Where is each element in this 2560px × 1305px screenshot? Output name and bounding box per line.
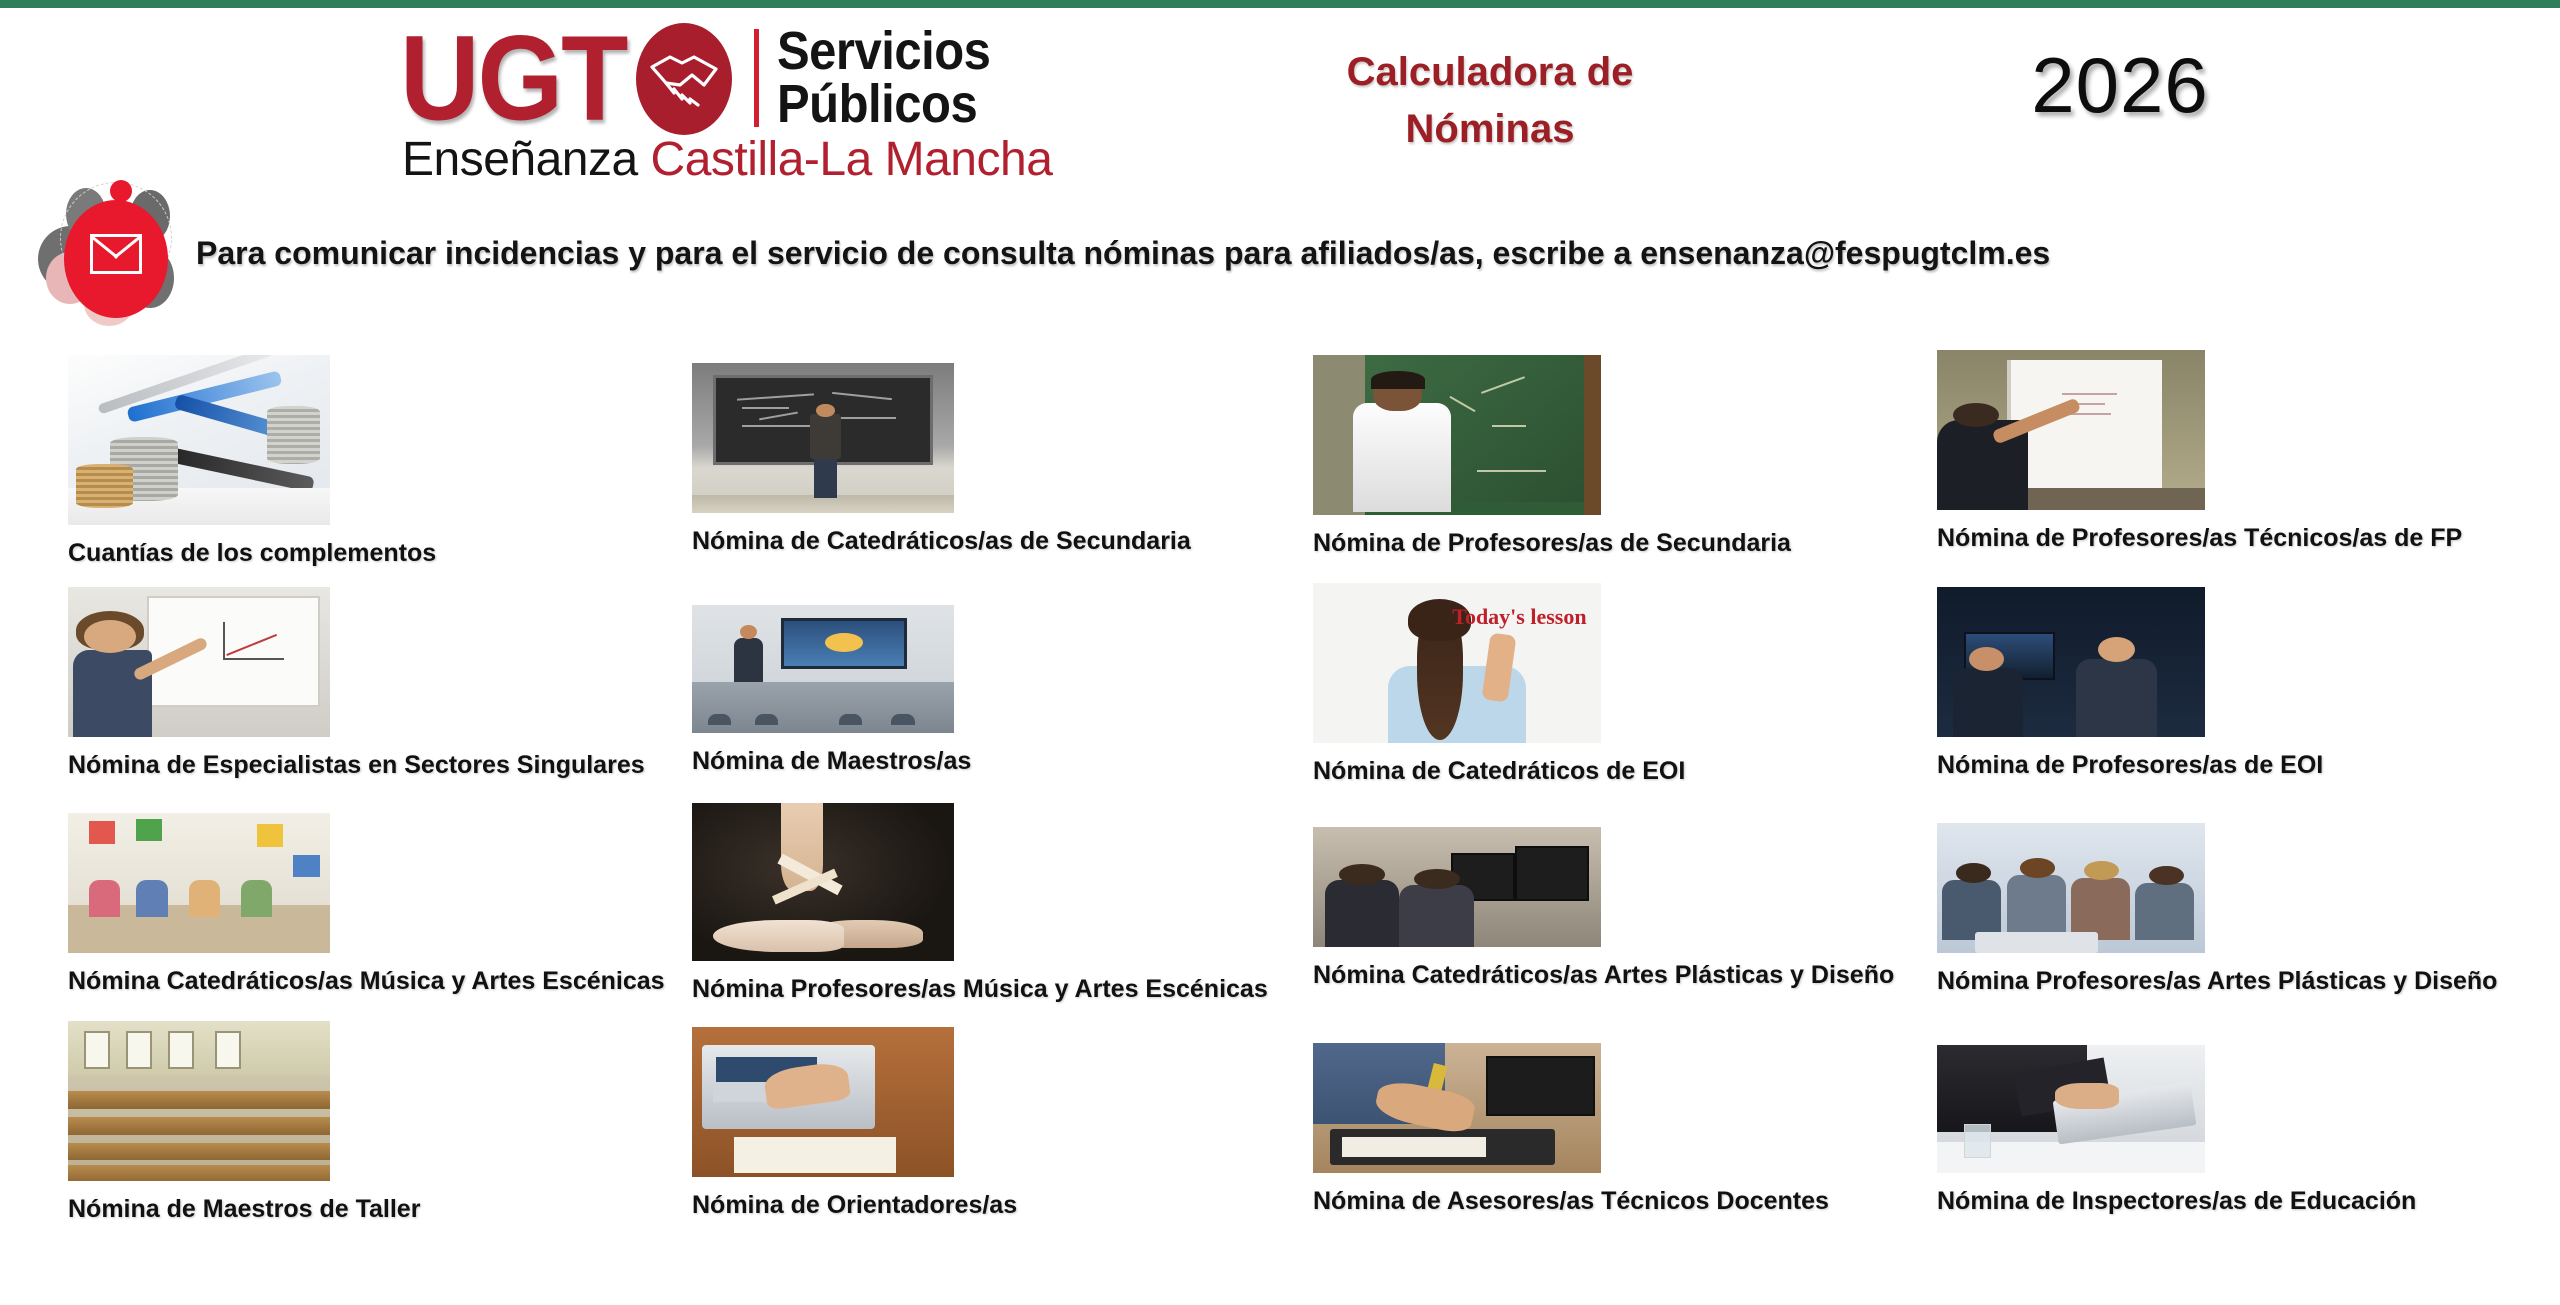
nomina-grid-row: Nómina de Maestros de TallerNómina de Or… <box>0 1005 2560 1225</box>
flip-photo <box>1937 350 2205 510</box>
nomina-card-label[interactable]: Nómina de Profesores/as Técnicos/as de F… <box>1937 524 2462 553</box>
nomina-thumbnail[interactable] <box>1313 355 1601 515</box>
nomina-thumbnail[interactable] <box>1313 827 1601 947</box>
notes-photo <box>1313 1043 1601 1173</box>
nomina-grid-row: Cuantías de los complementosNómina de Ca… <box>0 345 2560 565</box>
logo-divider <box>754 29 759 127</box>
nomina-card-label[interactable]: Nómina Profesores/as Música y Artes Escé… <box>692 975 1268 1004</box>
nomina-card-label[interactable]: Nómina Catedráticos/as Música y Artes Es… <box>68 967 665 996</box>
suit-photo <box>1937 1045 2205 1173</box>
contact-banner: Para comunicar incidencias y para el ser… <box>0 178 2560 328</box>
nomina-card-label[interactable]: Nómina de Profesores/as de Secundaria <box>1313 529 1791 558</box>
logo-top-row: UGT Servicios Públicos <box>400 18 1100 138</box>
nomina-card-label[interactable]: Nómina de Catedráticos/as de Secundaria <box>692 527 1191 556</box>
nomina-calculator-page: UGT Servicios Públicos Enseñanza Castill… <box>0 0 2560 1305</box>
nomina-card-label[interactable]: Nómina Catedráticos/as Artes Plásticas y… <box>1313 961 1894 990</box>
todays-lesson-overlay: Today's lesson <box>1452 604 1586 630</box>
group-photo <box>1937 823 2205 953</box>
page-title: Calculadora de Nóminas <box>1290 44 1690 158</box>
lesson-photo: Today's lesson <box>1313 583 1601 743</box>
nomina-card-label[interactable]: Cuantías de los complementos <box>68 539 436 568</box>
servicios-line: Servicios <box>777 22 990 81</box>
nomina-card-label[interactable]: Nómina de Catedráticos de EOI <box>1313 757 1685 786</box>
nomina-thumbnail[interactable] <box>1937 587 2205 737</box>
coins-photo <box>68 355 330 525</box>
nomina-card-label[interactable]: Nómina de Maestros/as <box>692 747 971 776</box>
nomina-thumbnail[interactable] <box>692 363 954 513</box>
nomina-thumbnail[interactable] <box>68 813 330 953</box>
servicios-publicos-text: Servicios Públicos <box>777 25 990 131</box>
publicos-line: Públicos <box>777 75 977 134</box>
page-title-line-1: Calculadora de <box>1290 44 1690 101</box>
taller-photo <box>68 1021 330 1181</box>
nomina-thumbnail[interactable] <box>1937 350 2205 510</box>
nomina-card-label[interactable]: Nómina de Profesores/as de EOI <box>1937 751 2323 780</box>
nomina-thumbnail[interactable] <box>692 803 954 961</box>
work-photo <box>1313 827 1601 947</box>
nomina-thumbnail[interactable] <box>1937 1045 2205 1173</box>
infant-photo <box>68 813 330 953</box>
nomina-card-label[interactable]: Nómina de Especialistas en Sectores Sing… <box>68 751 645 780</box>
nomina-card-label[interactable]: Nómina de Asesores/as Técnicos Docentes <box>1313 1187 1829 1216</box>
ugt-wordmark: UGT <box>400 18 626 139</box>
top-green-rule <box>0 0 2560 8</box>
page-header: UGT Servicios Públicos Enseñanza Castill… <box>0 8 2560 193</box>
board-photo <box>692 363 954 513</box>
nomina-grid-row: Nómina de Especialistas en Sectores Sing… <box>0 565 2560 785</box>
nomina-thumbnail[interactable]: Today's lesson <box>1313 583 1601 743</box>
nomina-grid-row: Nómina Catedráticos/as Música y Artes Es… <box>0 785 2560 1005</box>
year-label: 2026 <box>1960 46 2280 124</box>
ugt-logo: UGT Servicios Públicos Enseñanza Castill… <box>400 18 1100 193</box>
handshake-icon <box>636 23 732 135</box>
spec-photo <box>68 587 330 737</box>
nomina-card-label[interactable]: Nómina de Orientadores/as <box>692 1191 1017 1220</box>
class-photo <box>692 605 954 733</box>
office-photo <box>1937 587 2205 737</box>
logo-subtitle: Enseñanza Castilla-La Mancha <box>402 136 1052 184</box>
lab-photo <box>1313 355 1601 515</box>
nomina-thumbnail[interactable] <box>68 355 330 525</box>
nomina-grid: Cuantías de los complementosNómina de Ca… <box>0 345 2560 1225</box>
nomina-thumbnail[interactable] <box>68 1021 330 1181</box>
laptop-photo <box>692 1027 954 1177</box>
nomina-thumbnail[interactable] <box>1937 823 2205 953</box>
nomina-card-label[interactable]: Nómina de Inspectores/as de Educación <box>1937 1187 2416 1216</box>
nomina-thumbnail[interactable] <box>68 587 330 737</box>
nomina-card-label[interactable]: Nómina Profesores/as Artes Plásticas y D… <box>1937 967 2497 996</box>
nomina-thumbnail[interactable] <box>1313 1043 1601 1173</box>
nomina-thumbnail[interactable] <box>692 1027 954 1177</box>
contact-banner-text: Para comunicar incidencias y para el ser… <box>196 235 2050 272</box>
nomina-card-label[interactable]: Nómina de Maestros de Taller <box>68 1195 420 1224</box>
nomina-thumbnail[interactable] <box>692 605 954 733</box>
mail-envelope-icon <box>22 178 212 328</box>
ballet-photo <box>692 803 954 961</box>
page-title-line-2: Nóminas <box>1290 101 1690 158</box>
